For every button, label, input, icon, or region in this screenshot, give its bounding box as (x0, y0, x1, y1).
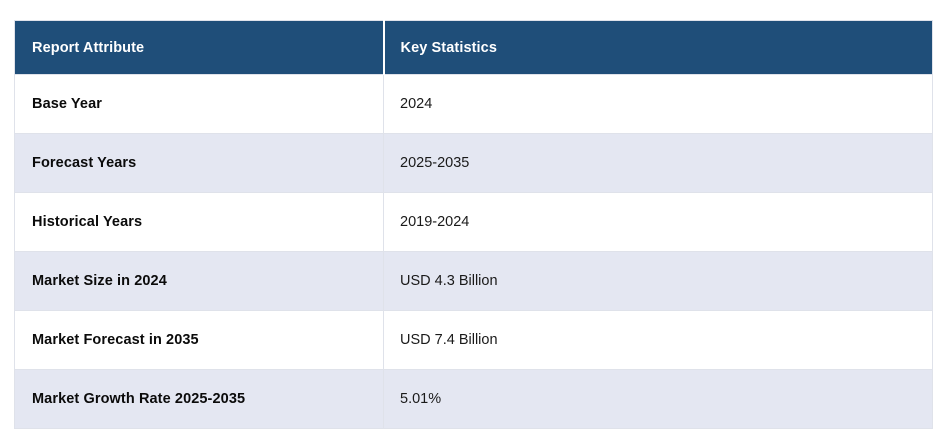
table-row: Base Year 2024 (15, 75, 933, 134)
cell-attribute: Market Size in 2024 (15, 252, 384, 311)
cell-attribute: Historical Years (15, 193, 384, 252)
table-row: Market Growth Rate 2025-2035 5.01% (15, 370, 933, 429)
table-row: Forecast Years 2025-2035 (15, 134, 933, 193)
table-row: Market Size in 2024 USD 4.3 Billion (15, 252, 933, 311)
cell-statistic: USD 7.4 Billion (384, 311, 933, 370)
table-body: Base Year 2024 Forecast Years 2025-2035 … (15, 75, 933, 429)
table-row: Historical Years 2019-2024 (15, 193, 933, 252)
column-header-report-attribute: Report Attribute (15, 21, 384, 75)
table-header-row: Report Attribute Key Statistics (15, 21, 933, 75)
cell-statistic: 2019-2024 (384, 193, 933, 252)
table-header: Report Attribute Key Statistics (15, 21, 933, 75)
stats-table-container: Report Attribute Key Statistics Base Yea… (14, 20, 932, 428)
cell-attribute: Market Forecast in 2035 (15, 311, 384, 370)
cell-statistic: 2024 (384, 75, 933, 134)
table-row: Market Forecast in 2035 USD 7.4 Billion (15, 311, 933, 370)
cell-statistic: 5.01% (384, 370, 933, 429)
cell-attribute: Forecast Years (15, 134, 384, 193)
report-attribute-table: Report Attribute Key Statistics Base Yea… (14, 20, 933, 429)
cell-attribute: Market Growth Rate 2025-2035 (15, 370, 384, 429)
cell-statistic: 2025-2035 (384, 134, 933, 193)
cell-attribute: Base Year (15, 75, 384, 134)
cell-statistic: USD 4.3 Billion (384, 252, 933, 311)
column-header-key-statistics: Key Statistics (384, 21, 933, 75)
